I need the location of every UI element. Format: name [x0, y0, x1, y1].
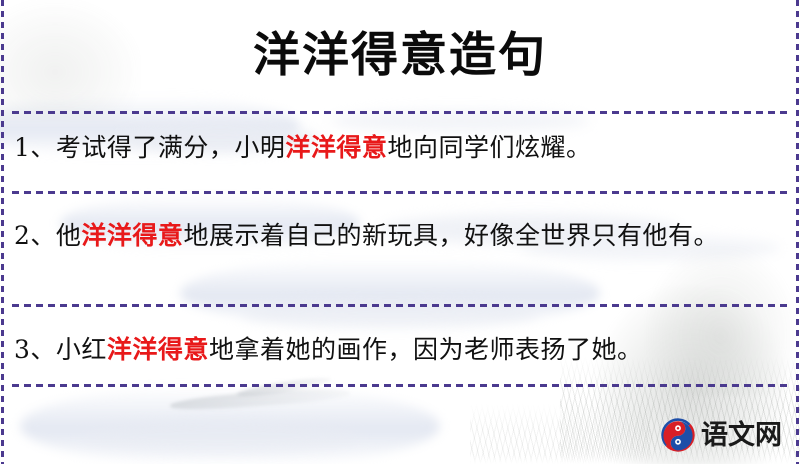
sentence-index-3: 3、 — [14, 335, 56, 364]
frame-border-left — [1, 0, 4, 464]
divider-after-sentence-1 — [12, 191, 788, 194]
page-title: 洋洋得意造句 — [0, 20, 800, 90]
frame-border-right — [796, 0, 799, 464]
highlighted-idiom-1: 洋洋得意 — [285, 133, 387, 162]
sentence-item-3: 3、小红洋洋得意地拿着她的画作，因为老师表扬了她。 — [14, 330, 784, 370]
sentence-item-2: 2、他洋洋得意地展示着自己的新玩具，好像全世界只有他有。 — [14, 216, 784, 256]
sentence-item-1: 1、考试得了满分，小明洋洋得意地向同学们炫耀。 — [14, 128, 784, 168]
sentence-text-before-2: 他 — [56, 221, 82, 250]
site-logo-text: 语文网 — [701, 422, 782, 449]
sentence-text-after-3: 地拿着她的画作，因为老师表扬了她。 — [209, 335, 643, 364]
highlighted-idiom-2: 洋洋得意 — [81, 221, 183, 250]
divider-after-sentence-2 — [12, 304, 788, 307]
yinyang-circle-logo-icon — [661, 418, 695, 452]
divider-after-sentence-3 — [12, 384, 788, 387]
worksheet-page: 洋洋得意造句 1、考试得了满分，小明洋洋得意地向同学们炫耀。 2、他洋洋得意地展… — [0, 0, 800, 464]
sentence-text-after-1: 地向同学们炫耀。 — [387, 133, 591, 162]
divider-below-title — [12, 111, 788, 114]
sentence-text-before-1: 考试得了满分，小明 — [56, 133, 286, 162]
highlighted-idiom-3: 洋洋得意 — [107, 335, 209, 364]
sentence-text-after-2: 地展示着自己的新玩具，好像全世界只有他有。 — [183, 221, 719, 250]
page-title-text: 洋洋得意造句 — [253, 32, 547, 79]
sentence-index-2: 2、 — [14, 221, 56, 250]
sentence-index-1: 1、 — [14, 133, 56, 162]
sentence-text-before-3: 小红 — [56, 335, 107, 364]
site-logo: 语文网 — [661, 418, 782, 452]
